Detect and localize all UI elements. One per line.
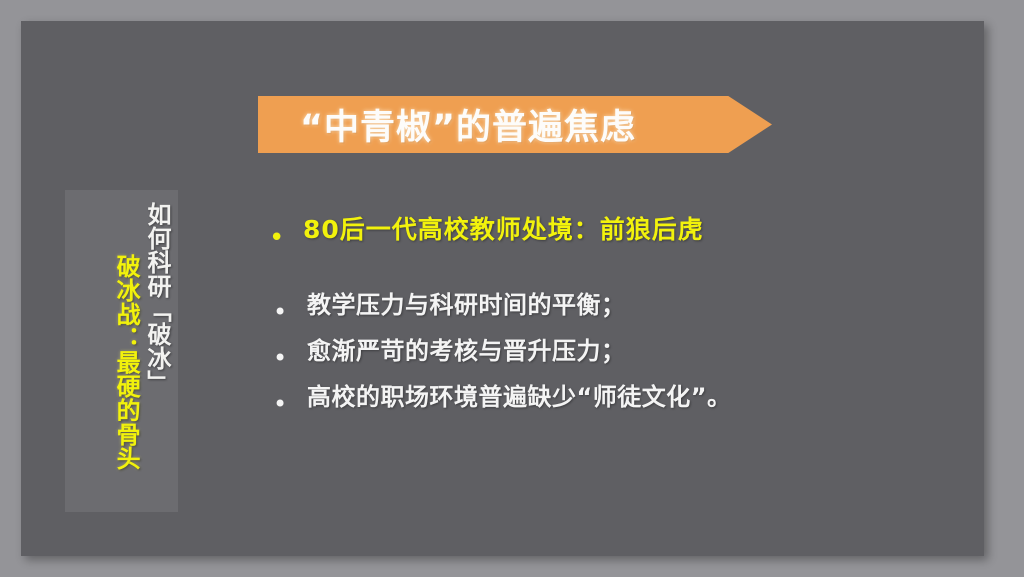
side-panel-secondary-label: 破冰战：最硬的骨头 [112, 254, 139, 470]
bullet-label-1: 教学压力与科研时间的平衡； [307, 293, 626, 317]
bullet-marker-icon: • [273, 385, 307, 416]
bullet-item-lead: • 80后一代高校教师处境：前狼后虎 [253, 217, 953, 251]
slide-canvas: “中青椒”的普遍焦虑 如何科研「破冰」 破冰战：最硬的骨头 • 80后一代高校教… [21, 21, 984, 556]
bullet-label-2: 愈渐严苛的考核与晋升压力； [307, 339, 626, 363]
slide-viewer: “中青椒”的普遍焦虑 如何科研「破冰」 破冰战：最硬的骨头 • 80后一代高校教… [0, 0, 1024, 577]
side-panel: 如何科研「破冰」 破冰战：最硬的骨头 [65, 190, 178, 512]
title-banner: “中青椒”的普遍焦虑 [258, 96, 772, 153]
bullet-item-2: • 愈渐严苛的考核与晋升压力； [253, 339, 953, 370]
bullet-marker-icon: • [273, 293, 307, 324]
side-panel-primary-label: 如何科研「破冰」 [143, 202, 170, 394]
bullet-label-lead: 80后一代高校教师处境：前狼后虎 [303, 217, 704, 242]
slide-title: “中青椒”的普遍焦虑 [300, 99, 636, 150]
bullet-label-3: 高校的职场环境普遍缺少“师徒文化”。 [307, 385, 732, 409]
bullet-list: • 80后一代高校教师处境：前狼后虎 • 教学压力与科研时间的平衡； • 愈渐严… [253, 217, 953, 431]
bullet-marker-icon: • [273, 339, 307, 370]
bullet-item-3: • 高校的职场环境普遍缺少“师徒文化”。 [253, 385, 953, 416]
bullet-item-1: • 教学压力与科研时间的平衡； [253, 293, 953, 324]
bullet-marker-icon: • [269, 217, 303, 251]
